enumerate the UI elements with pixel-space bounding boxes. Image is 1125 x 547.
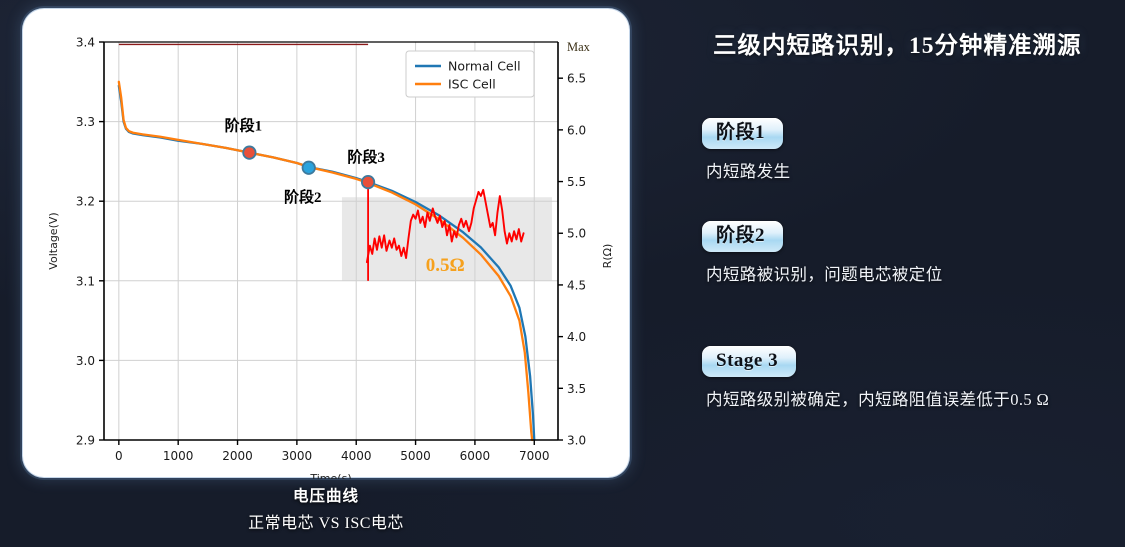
- tick-label-right: 6.0: [567, 123, 586, 137]
- tick-label-left: 3.4: [76, 36, 95, 50]
- voltage-resistance-chart: 2.93.03.13.23.33.43.03.54.04.55.05.56.06…: [23, 9, 631, 479]
- chart-plot-area: 2.93.03.13.23.33.43.03.54.04.55.05.56.06…: [23, 9, 629, 477]
- stage-badge-3: Stage 3: [702, 346, 796, 377]
- tick-label-bottom: 7000: [519, 449, 550, 463]
- y-axis-title: Voltage(V): [47, 212, 60, 269]
- stage-badge-2: 阶段2: [702, 221, 783, 252]
- y2-axis-title: R(Ω): [601, 244, 614, 269]
- tick-label-left: 2.9: [76, 434, 95, 448]
- max-axis-label: Max: [567, 40, 591, 54]
- stage-block-2: 阶段2 内短路被识别，问题电芯被定位: [702, 221, 1122, 285]
- stage-marker-1: [243, 146, 255, 158]
- tick-label-right: 4.5: [567, 278, 586, 292]
- tick-label-bottom: 1000: [163, 449, 194, 463]
- legend-label-1: Normal Cell: [448, 59, 521, 74]
- tick-label-right: 6.5: [567, 72, 586, 86]
- tick-label-left: 3.3: [76, 115, 95, 129]
- stage-badge-1: 阶段1: [702, 118, 783, 149]
- stage-block-3: Stage 3 内短路级别被确定，内短路阻值误差低于0.5 Ω: [702, 346, 1122, 410]
- chart-card: 2.93.03.13.23.33.43.03.54.04.55.05.56.06…: [22, 8, 630, 478]
- stage-marker-label-2: 阶段2: [284, 188, 322, 206]
- page-title: 三级内短路识别，15分钟精准溯源: [713, 26, 1123, 60]
- stage-marker-label-1: 阶段1: [225, 117, 263, 135]
- tick-label-bottom: 3000: [282, 449, 313, 463]
- legend-label-2: ISC Cell: [448, 77, 496, 92]
- tick-label-right: 5.0: [567, 227, 586, 241]
- tick-label-bottom: 5000: [400, 449, 431, 463]
- caption-title: 电压曲线: [22, 484, 630, 506]
- x-axis-title: Time(s): [309, 472, 351, 479]
- stage-desc-3: 内短路级别被确定，内短路阻值误差低于0.5 Ω: [702, 386, 1122, 410]
- stage-marker-2: [303, 162, 315, 174]
- caption-subtitle: 正常电芯 VS ISC电芯: [22, 509, 630, 533]
- tick-label-bottom: 6000: [460, 449, 491, 463]
- stage-desc-1: 内短路发生: [702, 158, 1122, 182]
- tick-label-bottom: 0: [115, 449, 123, 463]
- tick-label-left: 3.1: [76, 274, 95, 288]
- tick-label-right: 4.0: [567, 330, 586, 344]
- tick-label-left: 3.2: [76, 195, 95, 209]
- tick-label-left: 3.0: [76, 354, 95, 368]
- stage-block-1: 阶段1 内短路发生: [702, 118, 1122, 182]
- tick-label-right: 5.5: [567, 175, 586, 189]
- tick-label-bottom: 2000: [222, 449, 253, 463]
- tick-label-right: 3.5: [567, 382, 586, 396]
- annotation-resistance-value: 0.5Ω: [426, 255, 465, 276]
- chart-caption: 电压曲线 正常电芯 VS ISC电芯: [22, 484, 630, 533]
- stage-desc-2: 内短路被识别，问题电芯被定位: [702, 261, 1122, 285]
- stage-marker-3: [362, 176, 374, 188]
- stage-marker-label-3: 阶段3: [347, 148, 385, 166]
- tick-label-bottom: 4000: [341, 449, 372, 463]
- right-panel: 三级内短路识别，15分钟精准溯源 阶段1 内短路发生 阶段2 内短路被识别，问题…: [690, 0, 1125, 547]
- tick-label-right: 3.0: [567, 434, 586, 448]
